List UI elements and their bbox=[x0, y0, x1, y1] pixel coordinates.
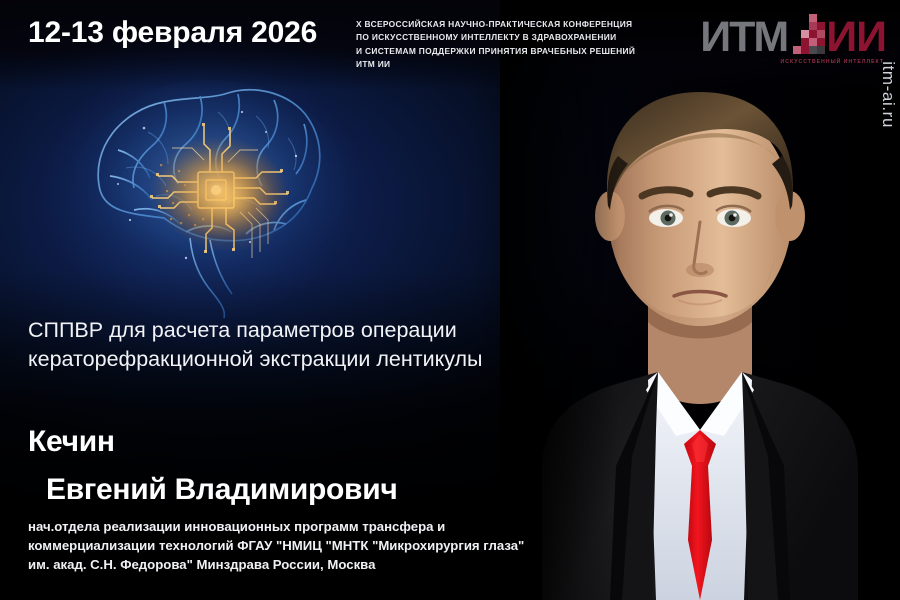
logo-row: ИТМ ИИ bbox=[700, 12, 886, 58]
speaker-last-name: Кечин bbox=[28, 425, 115, 458]
logo-itm-text: ИТМ bbox=[700, 17, 787, 58]
conference-description-line-2: ПО ИСКУССТВЕННОМУ ИНТЕЛЛЕКТУ В ЗДРАВОХРА… bbox=[356, 31, 656, 44]
logo-ii-text: ИИ bbox=[826, 17, 886, 58]
conference-description: X ВСЕРОССИЙСКАЯ НАУЧНО-ПРАКТИЧЕСКАЯ КОНФ… bbox=[356, 18, 656, 71]
speaker-first-name: Евгений Владимирович bbox=[46, 473, 397, 506]
itm-ai-logo[interactable]: ИТМ ИИ ИСК bbox=[700, 12, 886, 65]
conference-description-line-3: И СИСТЕМАМ ПОДДЕРЖКИ ПРИНЯТИЯ ВРАЧЕБНЫХ … bbox=[356, 45, 656, 58]
speaker-slide: 12-13 февраля 2026 X ВСЕРОССИЙСКАЯ НАУЧН… bbox=[0, 0, 900, 600]
conference-description-line-1: X ВСЕРОССИЙСКАЯ НАУЧНО-ПРАКТИЧЕСКАЯ КОНФ… bbox=[356, 18, 656, 31]
logo-pixel-triangle-icon bbox=[785, 12, 825, 58]
speaker-affiliation: нач.отдела реализации инновационных прог… bbox=[28, 518, 533, 575]
speaker-portrait bbox=[500, 0, 900, 600]
logo-subtitle: ИСКУССТВЕННЫЙ ИНТЕЛЛЕКТ bbox=[781, 59, 884, 65]
conference-description-line-4: ИТМ ИИ bbox=[356, 58, 656, 71]
talk-title: СППВР для расчета параметров операции ке… bbox=[28, 316, 488, 373]
brain-ai-illustration bbox=[60, 72, 360, 322]
portrait-left-fade bbox=[500, 0, 620, 600]
website-url[interactable]: itm-ai.ru bbox=[878, 61, 898, 128]
chip-glow bbox=[168, 150, 288, 250]
conference-date: 12-13 февраля 2026 bbox=[28, 16, 317, 50]
